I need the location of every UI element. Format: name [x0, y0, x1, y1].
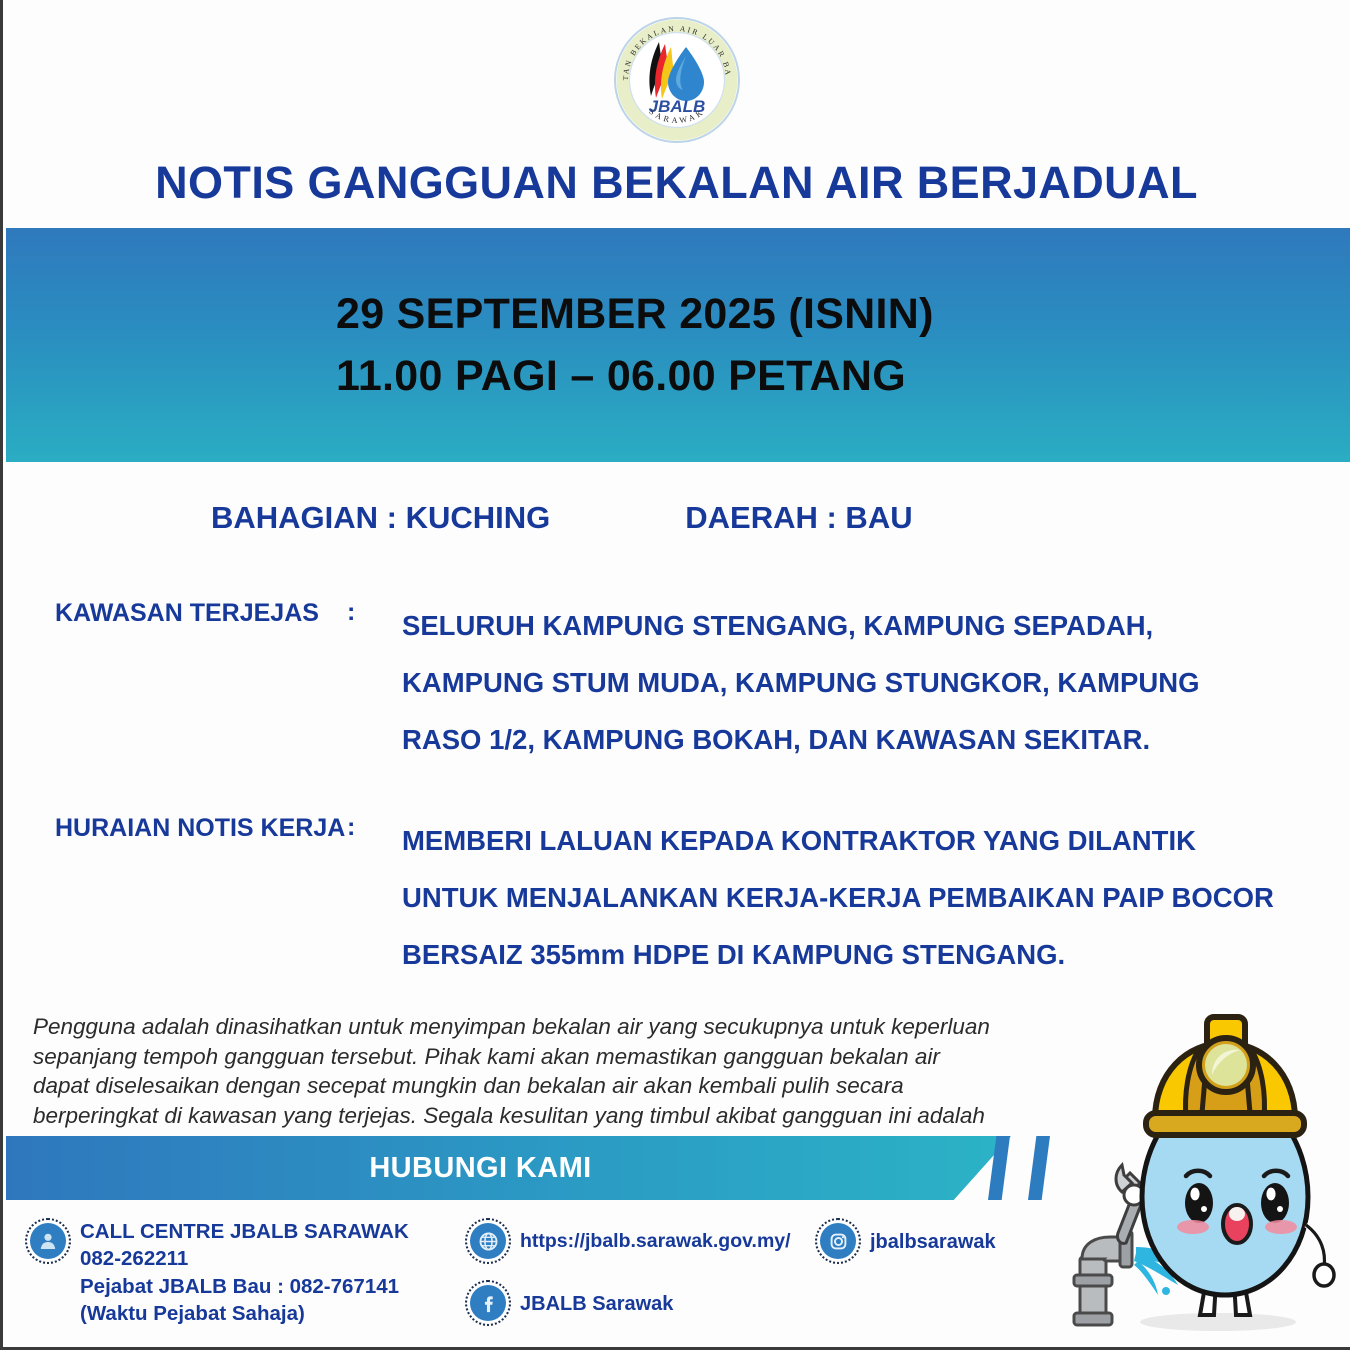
- detail-value: MEMBERI LALUAN KEPADA KONTRAKTOR YANG DI…: [402, 813, 1310, 984]
- website-label[interactable]: https://jbalb.sarawak.gov.my/: [520, 1218, 791, 1255]
- detail-line: MEMBERI LALUAN KEPADA KONTRAKTOR YANG DI…: [402, 813, 1310, 870]
- instagram-glyph: [827, 1230, 850, 1253]
- hard-hat-icon: [1146, 1017, 1304, 1135]
- office-hours-note: (Waktu Pejabat Sahaja): [80, 1300, 409, 1327]
- page-title: NOTIS GANGGUAN BEKALAN AIR BERJADUAL: [3, 157, 1350, 209]
- facebook-glyph: [477, 1292, 500, 1315]
- detail-separator: :: [347, 598, 402, 769]
- contact-instagram[interactable]: jbalbsarawak: [815, 1218, 996, 1264]
- detail-line: BERSAIZ 355mm HDPE DI KAMPUNG STENGANG.: [402, 927, 1310, 984]
- person-icon: [25, 1218, 71, 1264]
- call-centre-number: 082-262211: [80, 1245, 409, 1272]
- instagram-label[interactable]: jbalbsarawak: [870, 1218, 996, 1256]
- detail-label: KAWASAN TERJEJAS: [55, 598, 347, 769]
- detail-separator: :: [347, 813, 402, 984]
- contact-facebook[interactable]: JBALB Sarawak: [465, 1280, 673, 1326]
- schedule-time: 11.00 PAGI – 06.00 PETANG: [96, 345, 1350, 407]
- poster-root: JBALB JABATAN BEKALAN AIR LUAR BANDAR SA…: [0, 0, 1350, 1350]
- detail-line: UNTUK MENJALANKAN KERJA-KERJA PEMBAIKAN …: [402, 870, 1310, 927]
- region-row: BAHAGIAN : KUCHING DAERAH : BAU: [3, 500, 1350, 536]
- contact-banner: HUBUNGI KAMI: [6, 1136, 1011, 1200]
- detail-line: SELURUH KAMPUNG STENGANG, KAMPUNG SEPADA…: [402, 598, 1310, 655]
- contact-heading: HUBUNGI KAMI: [6, 1136, 1011, 1200]
- person-glyph: [36, 1229, 60, 1253]
- globe-icon: [465, 1218, 511, 1264]
- bau-office-number: Pejabat JBALB Bau : 082-767141: [80, 1273, 409, 1300]
- detail-line: KAMPUNG STUM MUDA, KAMPUNG STUNGKOR, KAM…: [402, 655, 1310, 712]
- detail-work-description: HURAIAN NOTIS KERJA : MEMBERI LALUAN KEP…: [55, 813, 1310, 984]
- jbalb-logo-icon: JBALB JABATAN BEKALAN AIR LUAR BANDAR SA…: [611, 14, 743, 146]
- banner-stripe-2: [1028, 1136, 1050, 1200]
- jbalb-logo: JBALB JABATAN BEKALAN AIR LUAR BANDAR SA…: [3, 14, 1350, 146]
- facebook-label[interactable]: JBALB Sarawak: [520, 1280, 673, 1318]
- detail-line: RASO 1/2, KAMPUNG BOKAH, DAN KAWASAN SEK…: [402, 712, 1310, 769]
- water-droplet-mascot: [1058, 995, 1350, 1350]
- detail-value: SELURUH KAMPUNG STENGANG, KAMPUNG SEPADA…: [402, 598, 1310, 769]
- instagram-icon: [815, 1218, 861, 1264]
- contact-website[interactable]: https://jbalb.sarawak.gov.my/: [465, 1218, 791, 1264]
- facebook-icon: [465, 1280, 511, 1326]
- detail-label: HURAIAN NOTIS KERJA: [55, 813, 347, 984]
- district-label: DAERAH : BAU: [685, 500, 912, 536]
- call-centre-title: CALL CENTRE JBALB SARAWAK: [80, 1218, 409, 1245]
- schedule-banner: 29 SEPTEMBER 2025 (ISNIN) 11.00 PAGI – 0…: [6, 228, 1350, 462]
- schedule-date: 29 SEPTEMBER 2025 (ISNIN): [96, 283, 1350, 345]
- globe-glyph: [477, 1230, 500, 1253]
- contact-call-centre[interactable]: CALL CENTRE JBALB SARAWAK 082-262211 Pej…: [25, 1218, 409, 1327]
- division-label: BAHAGIAN : KUCHING: [211, 500, 550, 536]
- detail-affected-areas: KAWASAN TERJEJAS : SELURUH KAMPUNG STENG…: [55, 598, 1310, 769]
- call-centre-text: CALL CENTRE JBALB SARAWAK 082-262211 Pej…: [80, 1218, 409, 1327]
